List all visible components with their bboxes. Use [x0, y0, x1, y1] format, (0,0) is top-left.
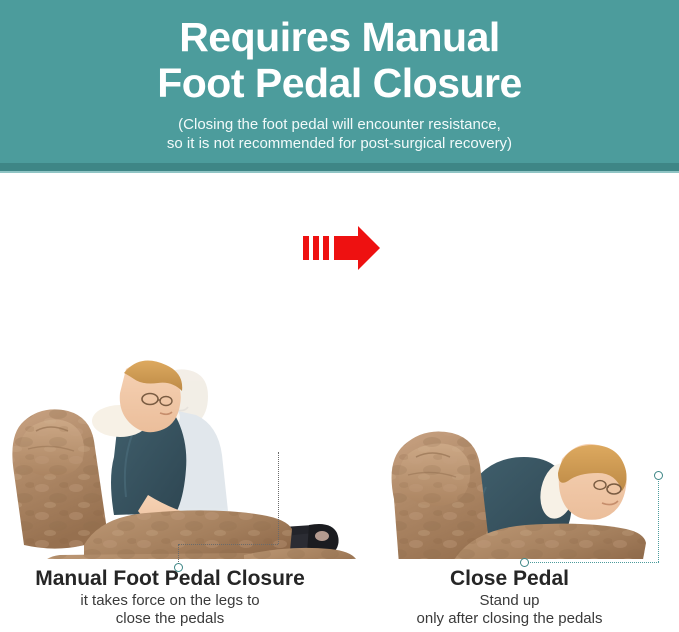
motion-arrow-right [303, 226, 380, 270]
right-callout-dot-top [654, 471, 663, 480]
caption-right-sub-line-1: Stand up [340, 592, 679, 610]
illustration-scene [0, 173, 679, 559]
page-subtitle: (Closing the foot pedal will encounter r… [0, 115, 679, 153]
caption-right-title: Close Pedal [340, 566, 679, 592]
right-callout-line-vertical [658, 481, 659, 562]
subtitle-line-2: so it is not recommended for post-surgic… [0, 134, 679, 153]
title-line-1: Requires Manual [0, 14, 679, 60]
caption-left-sub-line-1: it takes force on the legs to [0, 592, 340, 610]
caption-left-sub-line-2: close the pedals [0, 610, 340, 628]
infographic-page: Requires Manual Foot Pedal Closure (Clos… [0, 0, 679, 632]
caption-right-sub-line-2: only after closing the pedals [340, 610, 679, 628]
right-callout-line-horizontal [528, 562, 659, 563]
left-callout-line-vertical [278, 452, 279, 544]
title-line-2: Foot Pedal Closure [0, 60, 679, 106]
left-recliner-illustration [12, 361, 378, 560]
scene-svg [0, 173, 679, 559]
caption-right: Close Pedal Stand up only after closing … [340, 566, 679, 628]
subtitle-line-1: (Closing the foot pedal will encounter r… [0, 115, 679, 134]
caption-left-title: Manual Foot Pedal Closure [0, 566, 340, 592]
right-recliner-illustration [392, 432, 646, 560]
page-title: Requires Manual Foot Pedal Closure [0, 14, 679, 106]
header-underline [0, 163, 679, 171]
caption-left: Manual Foot Pedal Closure it takes force… [0, 566, 340, 628]
left-callout-line-drop [178, 544, 179, 564]
left-callout-line-horizontal [178, 544, 278, 545]
